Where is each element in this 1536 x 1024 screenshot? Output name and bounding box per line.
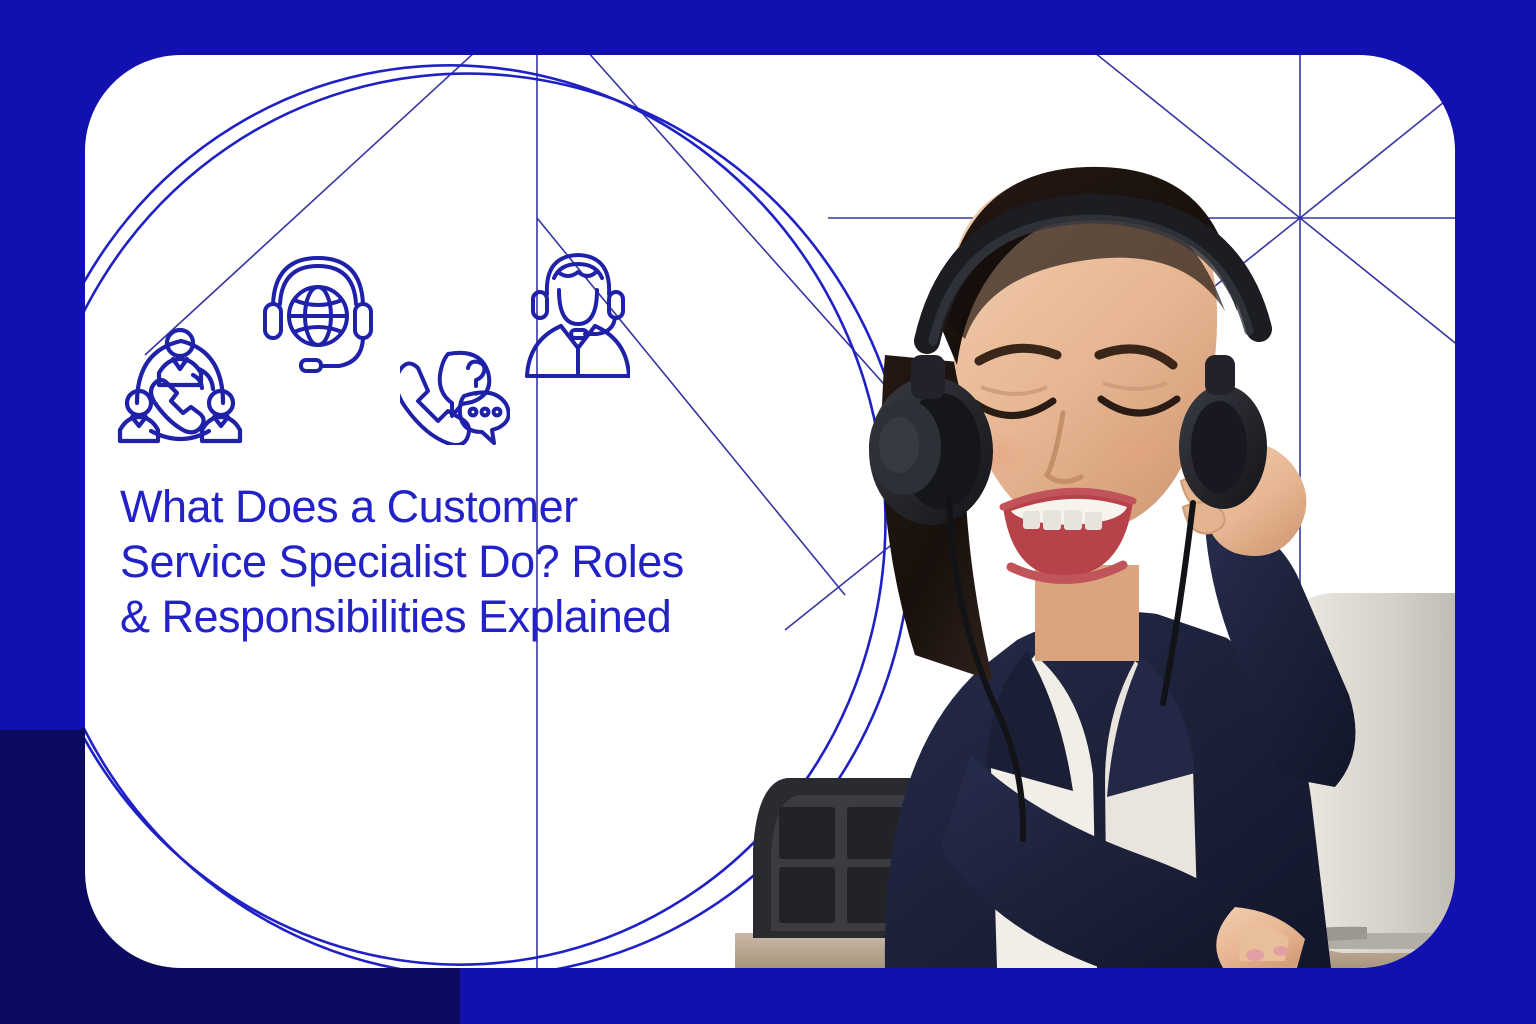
phone-chat-bubbles-icon: [400, 350, 510, 445]
support-agent-headset-icon: [525, 250, 630, 380]
page-title-line-2: Service Specialist Do? Roles: [120, 535, 780, 590]
content-card: What Does a Customer Service Specialist …: [85, 55, 1455, 968]
page-title-line-3: & Responsibilities Explained: [120, 590, 780, 645]
page-title-line-1: What Does a Customer: [120, 480, 780, 535]
hero-photo: [735, 55, 1455, 968]
page-title: What Does a Customer Service Specialist …: [120, 480, 780, 645]
team-call-network-icon: [115, 325, 245, 450]
globe-headset-icon: [263, 250, 373, 385]
banner-canvas: What Does a Customer Service Specialist …: [0, 0, 1536, 1024]
